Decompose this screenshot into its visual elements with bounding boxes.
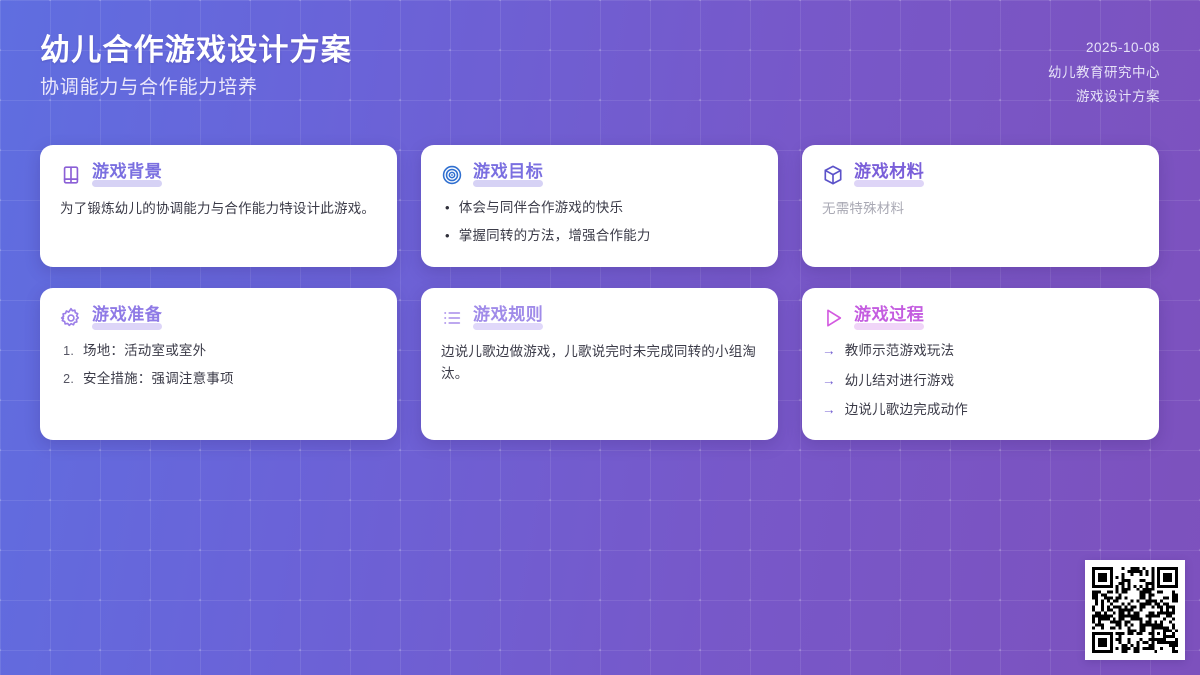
card-goals: 游戏目标•体会与同伴合作游戏的快乐•掌握同转的方法，增强合作能力 xyxy=(421,145,778,267)
card-title: 游戏准备 xyxy=(92,305,162,324)
list-item-number: 2. xyxy=(60,369,74,389)
card-grid: 游戏背景为了锻炼幼儿的协调能力与合作能力特设计此游戏。游戏目标•体会与同伴合作游… xyxy=(40,145,1160,440)
card-header: 游戏背景 xyxy=(60,162,377,187)
card-title: 游戏材料 xyxy=(854,162,924,181)
card-header: 游戏目标 xyxy=(441,162,758,187)
meta-organization: 幼儿教育研究中心 xyxy=(1048,63,1160,83)
card-title-underline xyxy=(92,323,162,330)
qr-code-image xyxy=(1092,567,1178,653)
meta-category: 游戏设计方案 xyxy=(1076,87,1160,107)
card-materials: 游戏材料无需特殊材料 xyxy=(802,145,1159,267)
card-title-underline xyxy=(854,180,924,187)
meta-date: 2025-10-08 xyxy=(1086,38,1160,58)
card-title-underline xyxy=(473,180,543,187)
card-title: 游戏目标 xyxy=(473,162,543,181)
list-item-number: 1. xyxy=(60,341,74,361)
slide-canvas: 幼儿合作游戏设计方案 协调能力与合作能力培养 2025-10-08 幼儿教育研究… xyxy=(0,0,1200,675)
gear-icon xyxy=(60,307,82,329)
list-item-label: 边说儿歌边完成动作 xyxy=(845,400,968,421)
list-item-label: 安全措施：强调注意事项 xyxy=(83,369,234,390)
card-title-underline xyxy=(473,323,543,330)
card-title-underline xyxy=(854,323,924,330)
slide-header: 幼儿合作游戏设计方案 协调能力与合作能力培养 2025-10-08 幼儿教育研究… xyxy=(0,0,1200,136)
card-header: 游戏规则 xyxy=(441,305,758,330)
card-background: 游戏背景为了锻炼幼儿的协调能力与合作能力特设计此游戏。 xyxy=(40,145,397,267)
card-title-wrap: 游戏材料 xyxy=(854,162,924,187)
list-item: →幼儿结对进行游戏 xyxy=(822,371,1139,392)
list-item-label: 教师示范游戏玩法 xyxy=(845,341,955,362)
list-item-label: 掌握同转的方法，增强合作能力 xyxy=(459,226,651,247)
list-item-label: 体会与同伴合作游戏的快乐 xyxy=(459,198,623,219)
bullet-icon: • xyxy=(441,198,450,218)
page-title: 幼儿合作游戏设计方案 xyxy=(40,34,352,68)
card-rules: 游戏规则边说儿歌边做游戏，儿歌说完时未完成同转的小组淘汰。 xyxy=(421,288,778,440)
card-title: 游戏背景 xyxy=(92,162,162,181)
card-body: →教师示范游戏玩法→幼儿结对进行游戏→边说儿歌边完成动作 xyxy=(822,341,1139,430)
card-title-wrap: 游戏目标 xyxy=(473,162,543,187)
bullet-icon: • xyxy=(441,226,450,246)
play-icon xyxy=(822,307,844,329)
header-title-block: 幼儿合作游戏设计方案 协调能力与合作能力培养 xyxy=(40,34,352,99)
card-title-underline xyxy=(92,180,162,187)
book-icon xyxy=(60,164,82,186)
card-paragraph: 边说儿歌边做游戏，儿歌说完时未完成同转的小组淘汰。 xyxy=(441,341,758,385)
list-item-label: 场地：活动室或室外 xyxy=(83,341,206,362)
arrow-icon: → xyxy=(822,341,836,361)
card-body: 无需特殊材料 xyxy=(822,198,1139,220)
card-header: 游戏材料 xyxy=(822,162,1139,187)
card-body: 边说儿歌边做游戏，儿歌说完时未完成同转的小组淘汰。 xyxy=(441,341,758,385)
list-item: →教师示范游戏玩法 xyxy=(822,341,1139,362)
card-list: 1.场地：活动室或室外2.安全措施：强调注意事项 xyxy=(60,341,377,389)
box-icon xyxy=(822,164,844,186)
list-icon xyxy=(441,307,463,329)
card-list: →教师示范游戏玩法→幼儿结对进行游戏→边说儿歌边完成动作 xyxy=(822,341,1139,421)
header-meta-block: 2025-10-08 幼儿教育研究中心 游戏设计方案 xyxy=(1048,34,1160,107)
card-body: 1.场地：活动室或室外2.安全措施：强调注意事项 xyxy=(60,341,377,396)
qr-code[interactable] xyxy=(1085,560,1185,660)
arrow-icon: → xyxy=(822,400,836,420)
list-item-label: 幼儿结对进行游戏 xyxy=(845,371,955,392)
card-body: •体会与同伴合作游戏的快乐•掌握同转的方法，增强合作能力 xyxy=(441,198,758,253)
card-title-wrap: 游戏过程 xyxy=(854,305,924,330)
card-process: 游戏过程→教师示范游戏玩法→幼儿结对进行游戏→边说儿歌边完成动作 xyxy=(802,288,1159,440)
card-title-wrap: 游戏规则 xyxy=(473,305,543,330)
card-header: 游戏过程 xyxy=(822,305,1139,330)
card-title-wrap: 游戏背景 xyxy=(92,162,162,187)
list-item: →边说儿歌边完成动作 xyxy=(822,400,1139,421)
list-item: 1.场地：活动室或室外 xyxy=(60,341,377,362)
card-title-wrap: 游戏准备 xyxy=(92,305,162,330)
card-header: 游戏准备 xyxy=(60,305,377,330)
page-subtitle: 协调能力与合作能力培养 xyxy=(40,77,352,100)
card-list: •体会与同伴合作游戏的快乐•掌握同转的方法，增强合作能力 xyxy=(441,198,758,246)
card-placeholder-text: 无需特殊材料 xyxy=(822,198,1139,220)
card-preparation: 游戏准备1.场地：活动室或室外2.安全措施：强调注意事项 xyxy=(40,288,397,440)
card-paragraph: 为了锻炼幼儿的协调能力与合作能力特设计此游戏。 xyxy=(60,198,377,220)
list-item: •掌握同转的方法，增强合作能力 xyxy=(441,226,758,247)
list-item: 2.安全措施：强调注意事项 xyxy=(60,369,377,390)
list-item: •体会与同伴合作游戏的快乐 xyxy=(441,198,758,219)
card-title: 游戏规则 xyxy=(473,305,543,324)
card-body: 为了锻炼幼儿的协调能力与合作能力特设计此游戏。 xyxy=(60,198,377,220)
arrow-icon: → xyxy=(822,371,836,391)
target-icon xyxy=(441,164,463,186)
card-title: 游戏过程 xyxy=(854,305,924,324)
